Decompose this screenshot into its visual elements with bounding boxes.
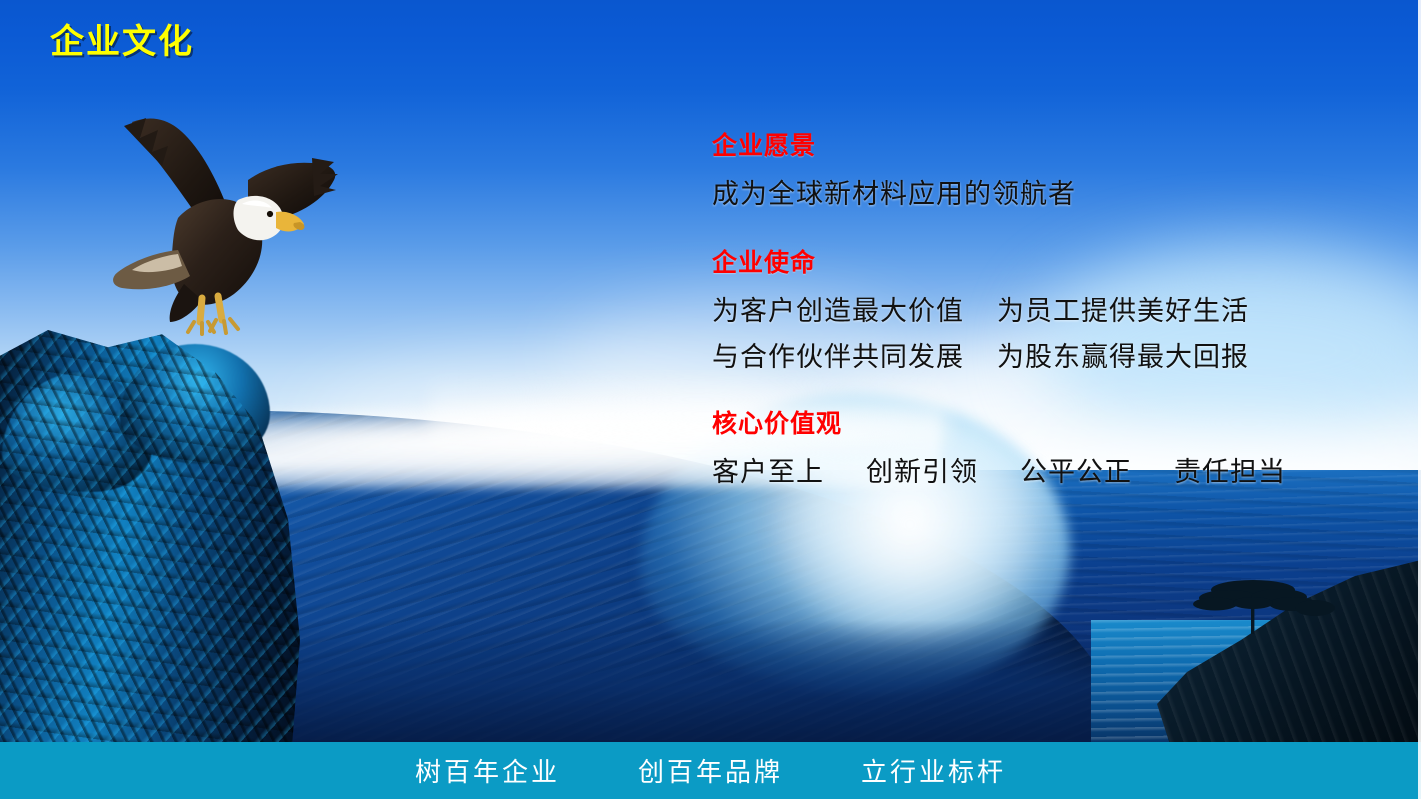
core-value-item: 责任担当 — [1174, 450, 1286, 489]
footer-slogan: 立行业标杆 — [861, 752, 1006, 789]
section-core-values: 核心价值观 客户至上 创新引领 公平公正 责任担当 — [712, 404, 1372, 489]
footer-slogan: 树百年企业 — [415, 752, 560, 789]
core-value-item: 客户至上 — [712, 450, 824, 489]
mission-item: 为股东赢得最大回报 — [997, 335, 1249, 374]
mission-item: 为客户创造最大价值 — [712, 289, 997, 328]
mission-item: 与合作伙伴共同发展 — [712, 335, 997, 374]
core-value-item: 公平公正 — [1020, 450, 1132, 489]
bald-eagle-icon — [62, 108, 342, 368]
section-heading-vision: 企业愿景 — [712, 126, 1372, 162]
mission-row: 与合作伙伴共同发展 为股东赢得最大回报 — [712, 335, 1372, 374]
footer-slogan: 创百年品牌 — [638, 752, 783, 789]
core-values-row: 客户至上 创新引领 公平公正 责任担当 — [712, 450, 1372, 489]
mission-item: 为员工提供美好生活 — [997, 289, 1249, 328]
page-title: 企业文化 — [50, 14, 194, 63]
core-value-item: 创新引领 — [866, 450, 978, 489]
mission-row: 为客户创造最大价值 为员工提供美好生活 — [712, 289, 1372, 328]
section-vision: 企业愿景 成为全球新材料应用的领航者 — [712, 126, 1372, 211]
section-heading-core-values: 核心价值观 — [712, 404, 1372, 440]
slide-canvas: 企业文化 企业愿景 成为全球新材料应用的领航者 企业使命 为客户创造最大价值 为… — [0, 0, 1421, 799]
culture-content: 企业愿景 成为全球新材料应用的领航者 企业使命 为客户创造最大价值 为员工提供美… — [712, 126, 1372, 515]
vision-statement: 成为全球新材料应用的领航者 — [712, 172, 1372, 211]
section-mission: 企业使命 为客户创造最大价值 为员工提供美好生活 与合作伙伴共同发展 为股东赢得… — [712, 243, 1372, 374]
section-heading-mission: 企业使命 — [712, 243, 1372, 279]
footer-slogan-bar: 树百年企业 创百年品牌 立行业标杆 — [0, 742, 1421, 799]
pine-tree-icon — [1175, 574, 1335, 636]
